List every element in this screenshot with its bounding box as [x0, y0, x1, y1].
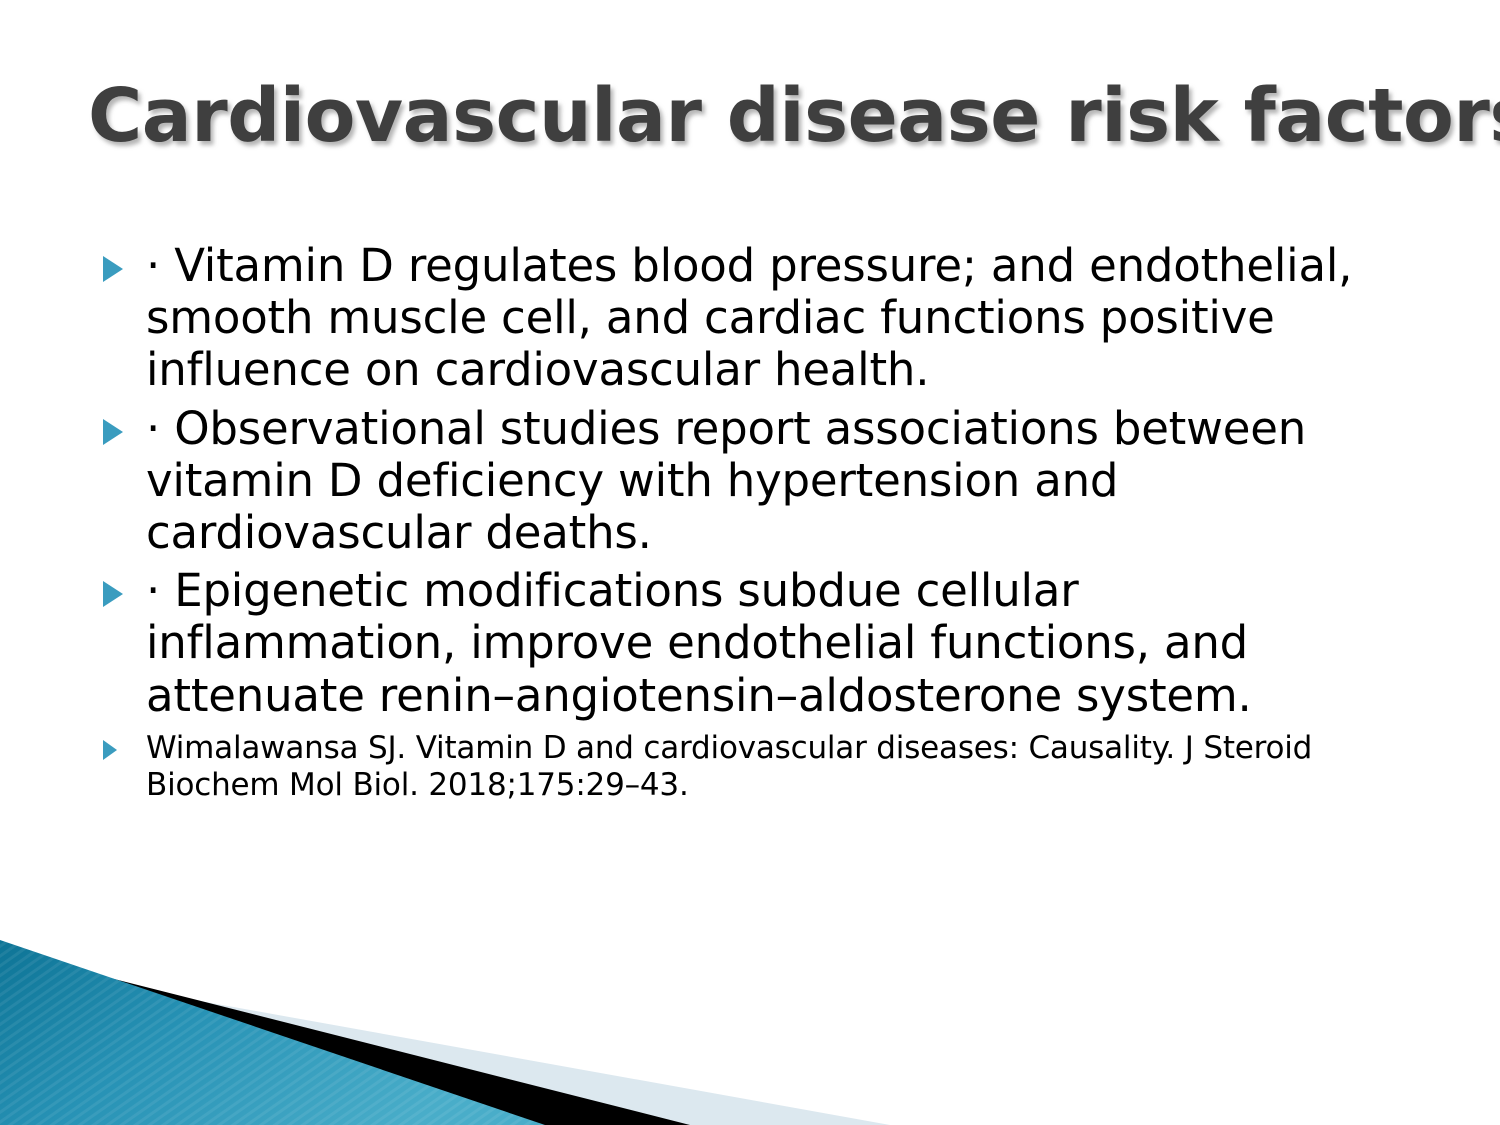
list-item: · Observational studies report associati…	[100, 403, 1400, 560]
reference-text: Wimalawansa SJ. Vitamin D and cardiovasc…	[146, 730, 1400, 804]
triangle-bullet-icon	[100, 730, 146, 762]
corner-banner-decoration	[0, 925, 1000, 1125]
teal-triangle-texture	[0, 940, 545, 1125]
bullet-text: · Vitamin D regulates blood pressure; an…	[146, 240, 1400, 397]
reference-item: Wimalawansa SJ. Vitamin D and cardiovasc…	[100, 730, 1400, 804]
pale-blue-band	[0, 965, 890, 1125]
slide: Cardiovascular disease risk factors · Vi…	[0, 0, 1500, 1125]
bullet-text: · Epigenetic modifications subdue cellul…	[146, 565, 1400, 722]
triangle-bullet-icon	[100, 240, 146, 284]
page-title: Cardiovascular disease risk factors	[88, 78, 1418, 156]
list-item: · Vitamin D regulates blood pressure; an…	[100, 240, 1400, 397]
black-diagonal-stripe	[0, 950, 690, 1125]
teal-triangle	[0, 940, 545, 1125]
bullet-list: · Vitamin D regulates blood pressure; an…	[100, 240, 1400, 810]
triangle-bullet-icon	[100, 565, 146, 609]
list-item: · Epigenetic modifications subdue cellul…	[100, 565, 1400, 722]
bullet-text: · Observational studies report associati…	[146, 403, 1400, 560]
triangle-bullet-icon	[100, 403, 146, 447]
